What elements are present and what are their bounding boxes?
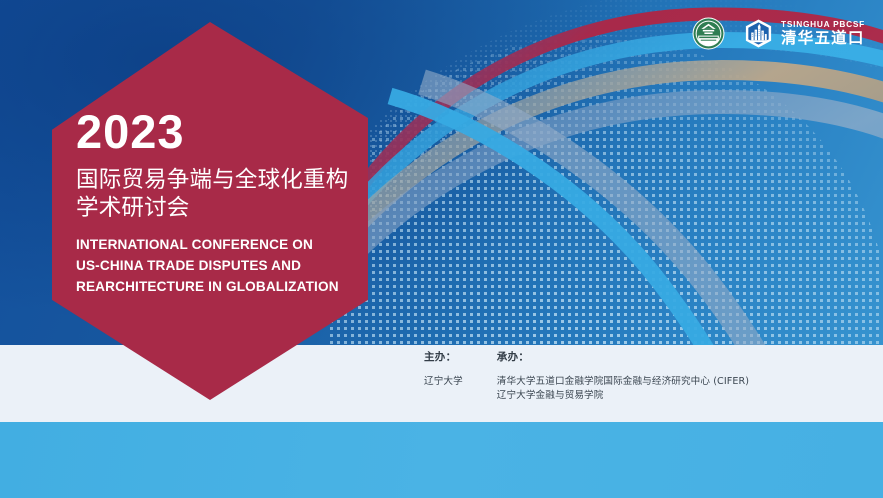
conference-title-cn: 国际贸易争端与全球化重构 学术研讨会 <box>76 167 376 222</box>
conference-title-en-line1: INTERNATIONAL CONFERENCE ON <box>76 235 376 256</box>
conference-title-cn-line2: 学术研讨会 <box>76 195 376 223</box>
pbcsf-logo: TSINGHUA PBCSF 清华五道口 <box>743 18 865 49</box>
cohost-name-2: 辽宁大学金融与贸易学院 <box>497 389 749 404</box>
lnu-seal-icon <box>692 17 725 50</box>
host-label: 主办： <box>424 352 463 363</box>
conference-title-cn-line1: 国际贸易争端与全球化重构 <box>76 167 376 195</box>
host-name: 辽宁大学 <box>424 375 463 390</box>
hero-text-block: 2023 国际贸易争端与全球化重构 学术研讨会 INTERNATIONAL CO… <box>76 108 376 297</box>
conference-title-en: INTERNATIONAL CONFERENCE ON US-CHINA TRA… <box>76 235 376 297</box>
host-column: 主办： 辽宁大学 <box>424 352 463 404</box>
cohost-column: 承办： 清华大学五道口金融学院国际金融与经济研究中心 (CIFER) 辽宁大学金… <box>497 352 749 404</box>
pbcsf-name-cn: 清华五道口 <box>781 31 865 47</box>
conference-title-en-line3: REARCHITECTURE IN GLOBALIZATION <box>76 277 376 298</box>
organizers-block: 主办： 辽宁大学 承办： 清华大学五道口金融学院国际金融与经济研究中心 (CIF… <box>424 352 749 404</box>
logo-bar: TSINGHUA PBCSF 清华五道口 <box>692 17 865 50</box>
pbcsf-shield-icon <box>743 18 774 49</box>
conference-poster: 2023 国际贸易争端与全球化重构 学术研讨会 INTERNATIONAL CO… <box>0 0 883 498</box>
cohost-label: 承办： <box>497 352 749 363</box>
conference-title-en-line2: US-CHINA TRADE DISPUTES AND <box>76 256 376 277</box>
pbcsf-name-en: TSINGHUA PBCSF <box>781 20 865 28</box>
globe-graphic <box>330 0 883 390</box>
pbcsf-wordmark: TSINGHUA PBCSF 清华五道口 <box>781 20 865 47</box>
footer-band <box>0 422 883 498</box>
conference-year: 2023 <box>76 108 376 155</box>
cohost-name-1: 清华大学五道口金融学院国际金融与经济研究中心 (CIFER) <box>497 375 749 390</box>
